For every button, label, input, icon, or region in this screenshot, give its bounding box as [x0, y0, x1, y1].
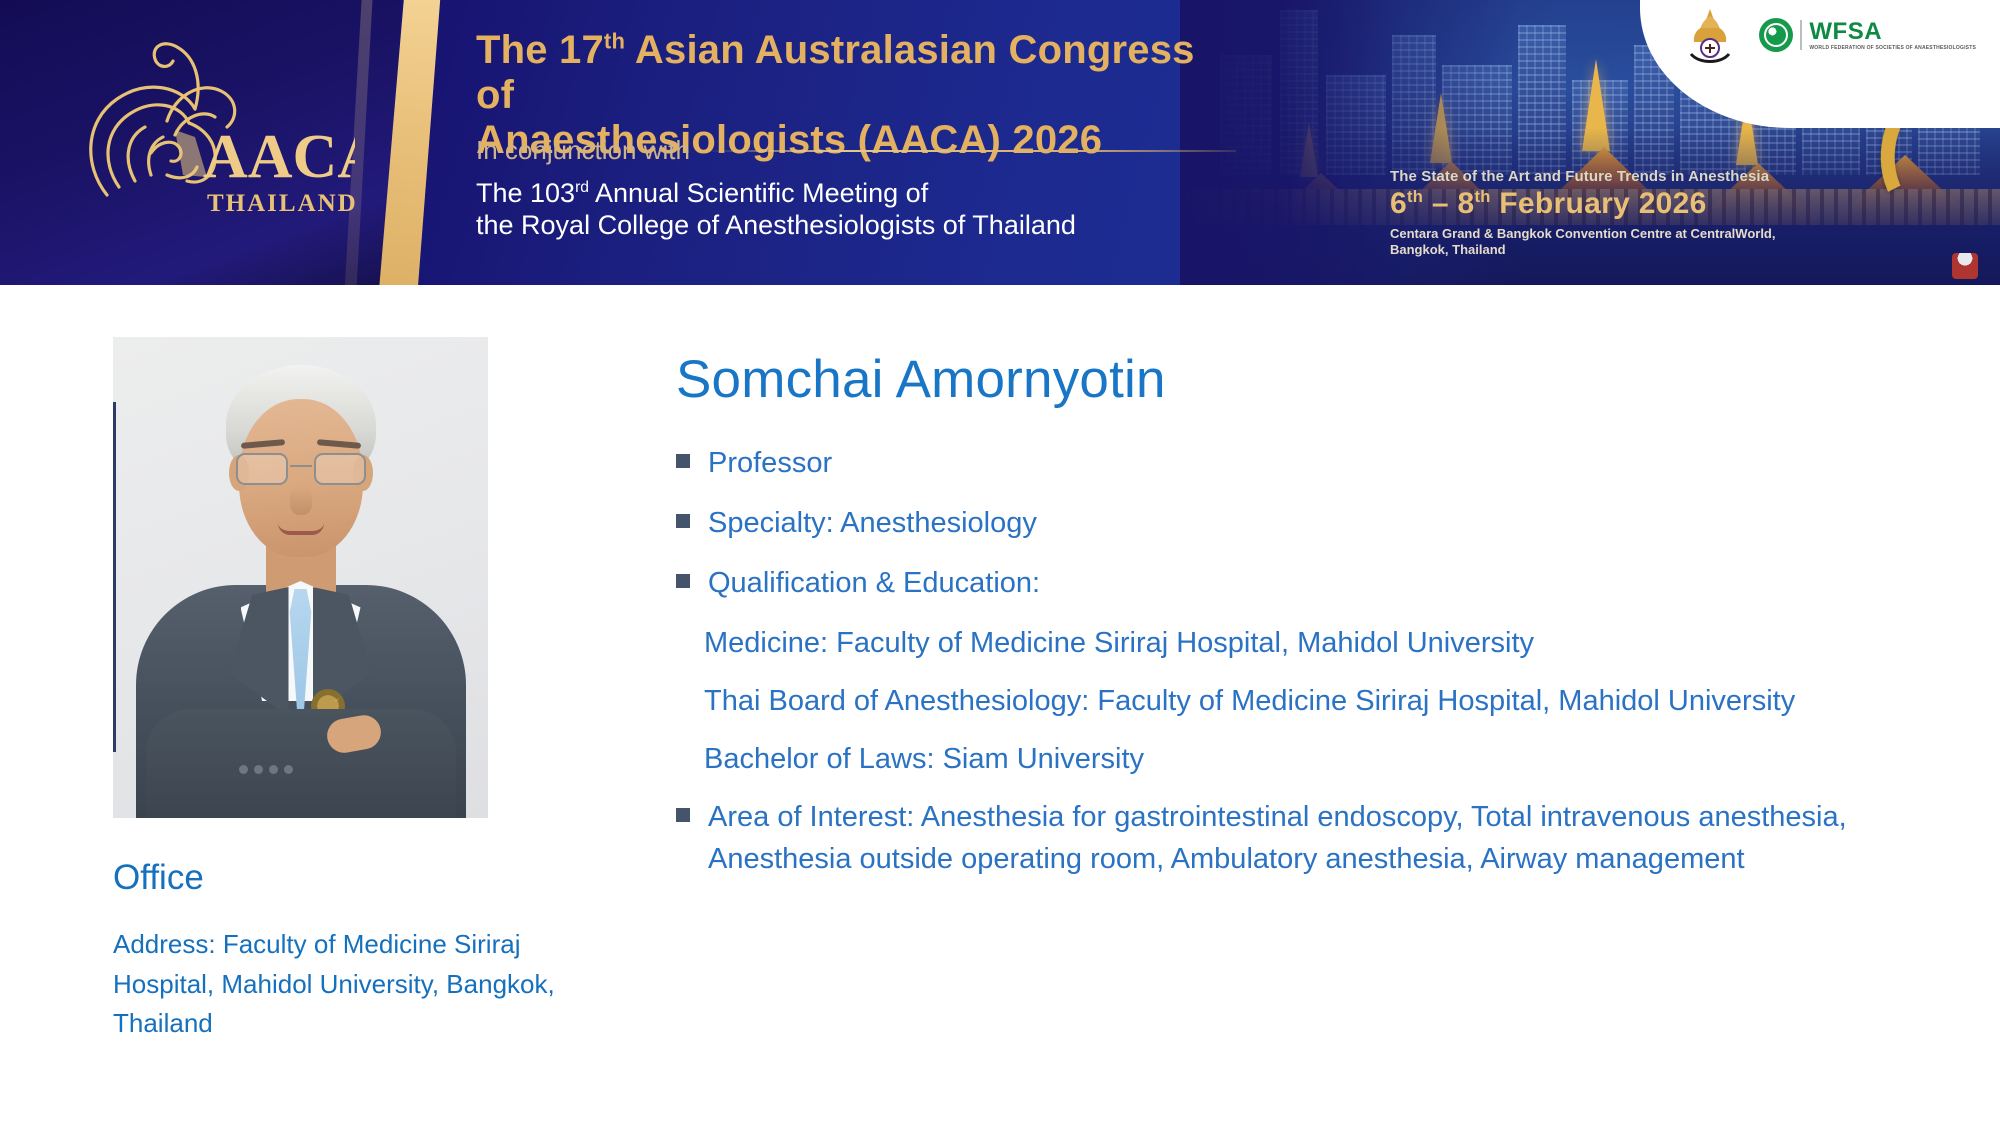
event-date-start-ord: th	[1407, 188, 1423, 206]
event-theme: The State of the Art and Future Trends i…	[1390, 168, 1910, 185]
office-address: Address: Faculty of Medicine Siriraj Hos…	[113, 925, 593, 1044]
congress-banner: AACA THAILAND 2026	[0, 0, 2000, 285]
area-of-interest: Area of Interest: Anesthesia for gastroi…	[708, 801, 1847, 875]
office-heading: Office	[113, 858, 204, 898]
asm-meeting-text: The 103rd Annual Scientific Meeting of t…	[476, 178, 1276, 242]
list-item: Qualification & Education:	[676, 562, 1916, 604]
bullet-square-icon	[676, 574, 690, 588]
gold-divider-rule	[706, 150, 1236, 152]
event-date-rest: February 2026	[1491, 187, 1707, 220]
list-item: Area of Interest: Anesthesia for gastroi…	[676, 796, 1916, 880]
list-item: Professor	[676, 442, 1916, 484]
list-item: Specialty: Anesthesiology	[676, 502, 1916, 544]
wfsa-subtitle: WORLD FEDERATION OF SOCIETIES OF ANAESTH…	[1809, 46, 1976, 51]
asm-ordinal: rd	[575, 179, 589, 196]
asm-line1-rest: Annual Scientific Meeting of	[589, 178, 928, 208]
wfsa-logo: WFSA WORLD FEDERATION OF SOCIETIES OF AN…	[1759, 18, 1976, 52]
page-title: Somchai Amornyotin	[676, 352, 1916, 408]
credential-label: Qualification & Education:	[708, 567, 1040, 599]
speaker-details: Somchai Amornyotin Professor Specialty: …	[676, 352, 1916, 898]
credential-label: Professor	[708, 447, 832, 479]
wfsa-globe-icon	[1759, 18, 1793, 52]
event-dates: 6th – 8th February 2026	[1390, 187, 1910, 222]
slide-root: AACA THAILAND 2026	[0, 0, 2000, 1125]
credentials-list: Professor Specialty: Anesthesiology Qual…	[676, 442, 1916, 880]
speaker-photo	[113, 337, 488, 818]
education-item: Medicine: Faculty of Medicine Siriraj Ho…	[676, 622, 1916, 664]
bullet-square-icon	[676, 454, 690, 468]
event-date-end-ord: th	[1474, 188, 1490, 206]
congress-title-line1-prefix: The 17	[476, 28, 604, 72]
asm-line2: the Royal College of Anesthesiologists o…	[476, 210, 1076, 240]
conjunction-label: In conjunction with	[476, 135, 690, 166]
education-item: Thai Board of Anesthesiology: Faculty of…	[676, 680, 1916, 722]
event-venue-line1: Centara Grand & Bangkok Convention Centr…	[1390, 226, 1775, 241]
education-item: Bachelor of Laws: Siam University	[676, 738, 1916, 780]
elephant-logo-icon: AACA THAILAND 2026	[55, 25, 355, 245]
logo-acronym: AACA	[203, 123, 355, 191]
event-venue-line2: Bangkok, Thailand	[1390, 242, 1506, 257]
conjunction-row: In conjunction with	[476, 135, 1236, 166]
congress-title-ordinal: th	[604, 29, 625, 54]
event-venue: Centara Grand & Bangkok Convention Centr…	[1390, 226, 1910, 259]
event-date-end: 8	[1457, 187, 1474, 220]
event-details-block: The State of the Art and Future Trends i…	[1390, 168, 1910, 258]
bullet-square-icon	[676, 808, 690, 822]
logo-subtitle: THAILAND 2026	[207, 190, 355, 217]
event-date-dash: –	[1423, 187, 1457, 220]
thai-royal-emblem-icon	[1687, 6, 1733, 64]
asm-line1-prefix: The 103	[476, 178, 575, 208]
wfsa-name: WFSA	[1809, 20, 1976, 44]
credential-label: Specialty: Anesthesiology	[708, 507, 1037, 539]
bullet-square-icon	[676, 514, 690, 528]
event-date-start: 6	[1390, 187, 1407, 220]
